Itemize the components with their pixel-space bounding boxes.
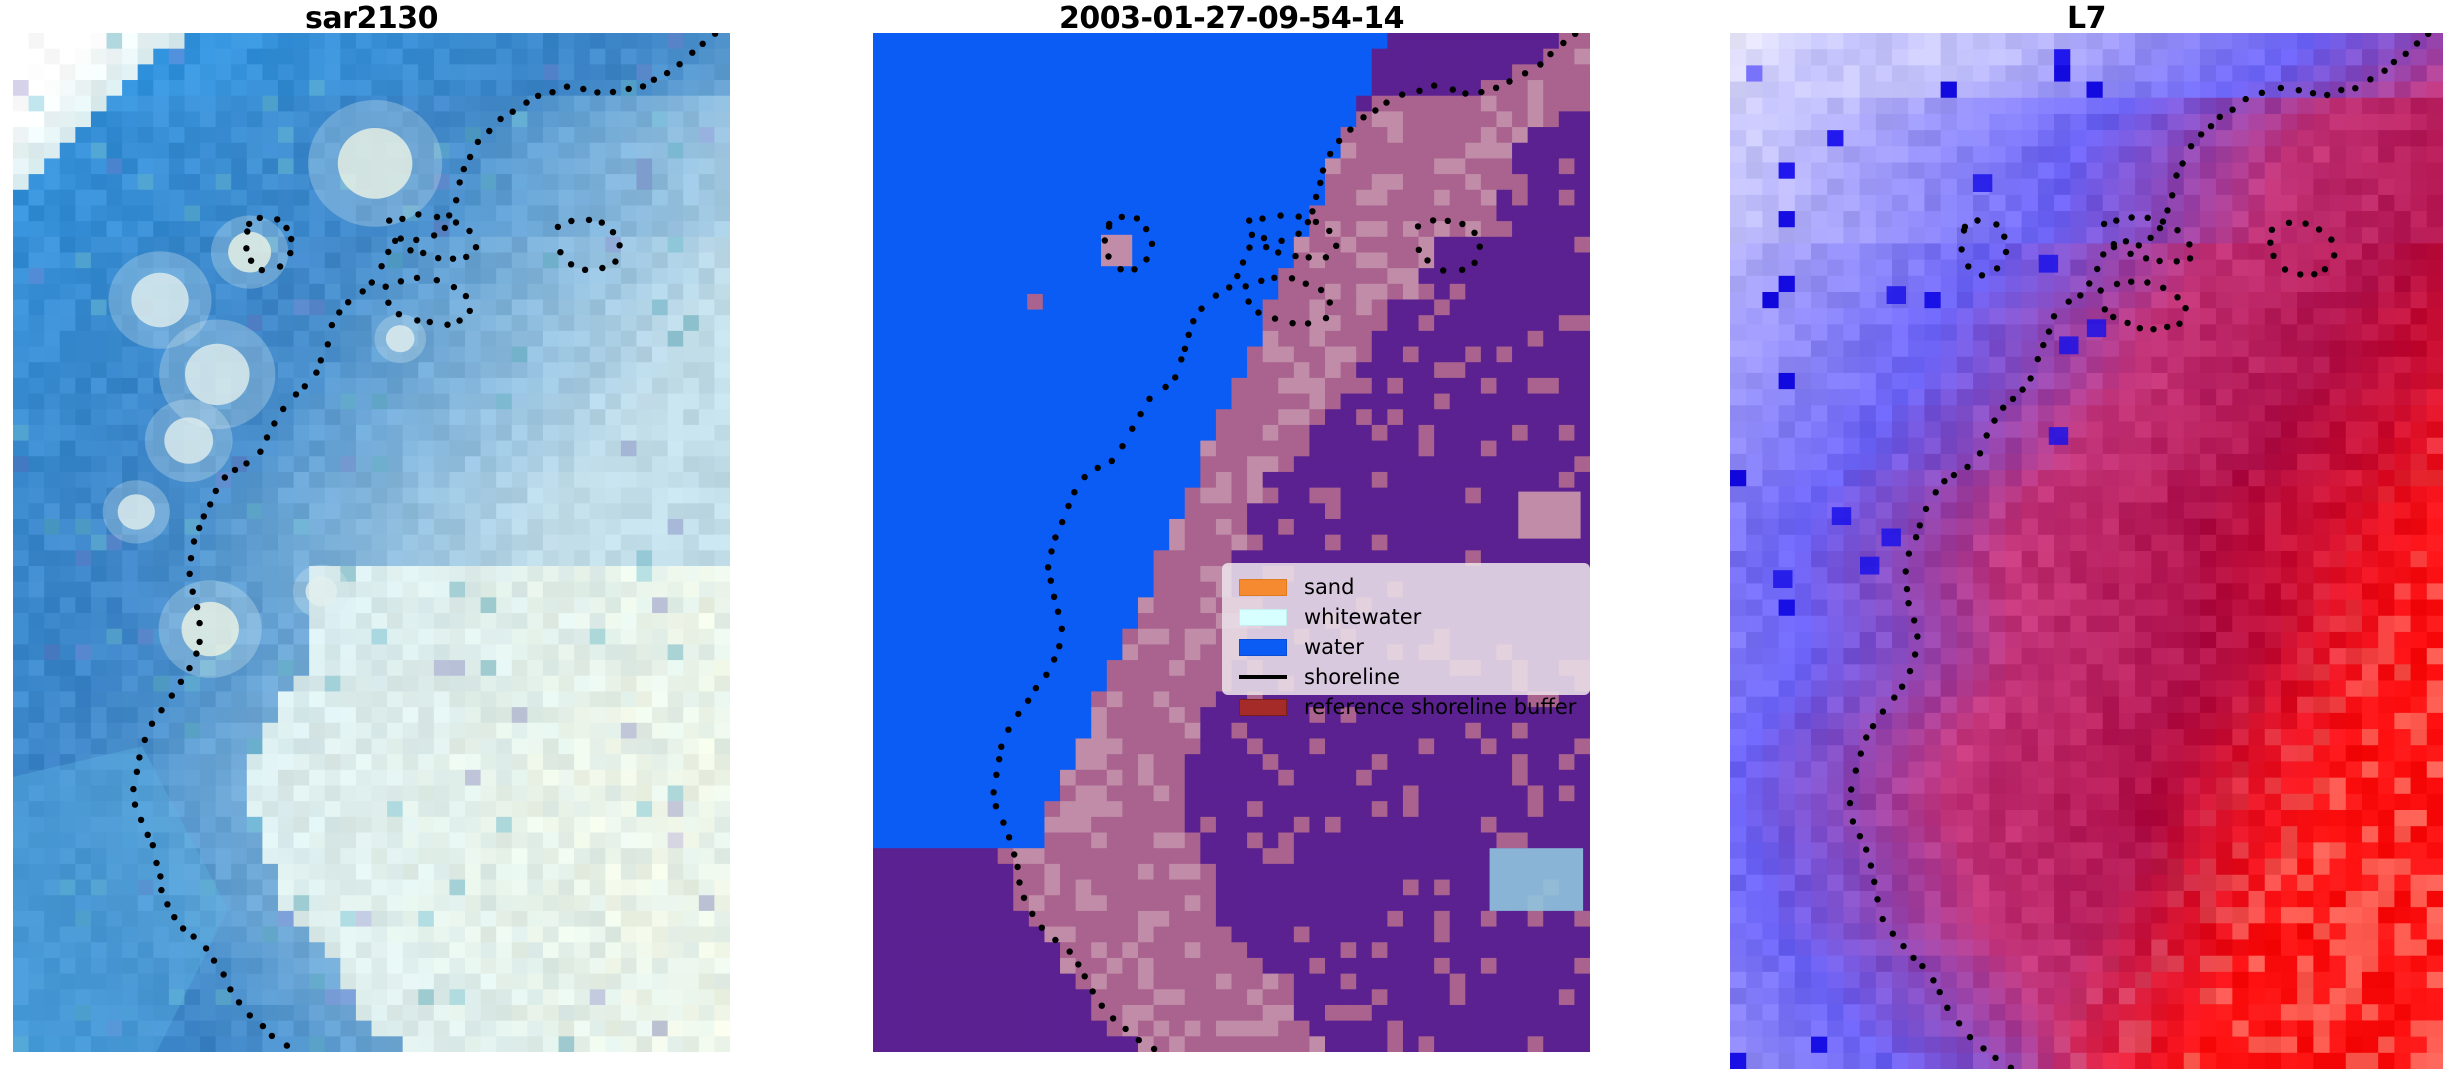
sar-raster-image bbox=[13, 33, 730, 1052]
legend-item-shoreline: shoreline bbox=[1232, 662, 1578, 692]
swatch-glyph bbox=[1239, 675, 1287, 679]
panel-l7: L7 bbox=[1730, 0, 2443, 1069]
legend-label: reference shoreline buffer bbox=[1294, 692, 1576, 722]
figure-canvas: sar2130 2003-01-27-09-54-14 L7 sandwhite… bbox=[0, 0, 2460, 1069]
legend-item-sand: sand bbox=[1232, 572, 1578, 602]
legend-item-whitewater: whitewater bbox=[1232, 602, 1578, 632]
legend-label: whitewater bbox=[1294, 602, 1421, 632]
legend-item-reference-shoreline-buffer: reference shoreline buffer bbox=[1232, 692, 1578, 722]
swatch-glyph bbox=[1239, 579, 1287, 596]
legend-label: sand bbox=[1294, 572, 1354, 602]
classification-raster-image bbox=[873, 33, 1590, 1052]
legend-item-water: water bbox=[1232, 632, 1578, 662]
panel-title-classified: 2003-01-27-09-54-14 bbox=[873, 4, 1590, 34]
legend-box: sandwhitewaterwatershorelinereference sh… bbox=[1222, 563, 1590, 695]
panel-title-sar2130: sar2130 bbox=[13, 4, 730, 34]
legend-swatch-reference-shoreline-buffer-icon bbox=[1232, 692, 1294, 722]
swatch-glyph bbox=[1239, 699, 1287, 716]
legend-swatch-sand-icon bbox=[1232, 572, 1294, 602]
swatch-glyph bbox=[1239, 639, 1287, 656]
legend-label: shoreline bbox=[1294, 662, 1400, 692]
legend-swatch-water-icon bbox=[1232, 632, 1294, 662]
legend-swatch-shoreline-icon bbox=[1232, 662, 1294, 692]
legend-label: water bbox=[1294, 632, 1364, 662]
swatch-glyph bbox=[1239, 609, 1287, 626]
panel-sar2130: sar2130 bbox=[13, 0, 730, 1069]
panel-classified: 2003-01-27-09-54-14 bbox=[873, 0, 1590, 1069]
l7-raster-image bbox=[1730, 33, 2443, 1069]
panel-title-l7: L7 bbox=[1730, 4, 2443, 34]
legend-swatch-whitewater-icon bbox=[1232, 602, 1294, 632]
